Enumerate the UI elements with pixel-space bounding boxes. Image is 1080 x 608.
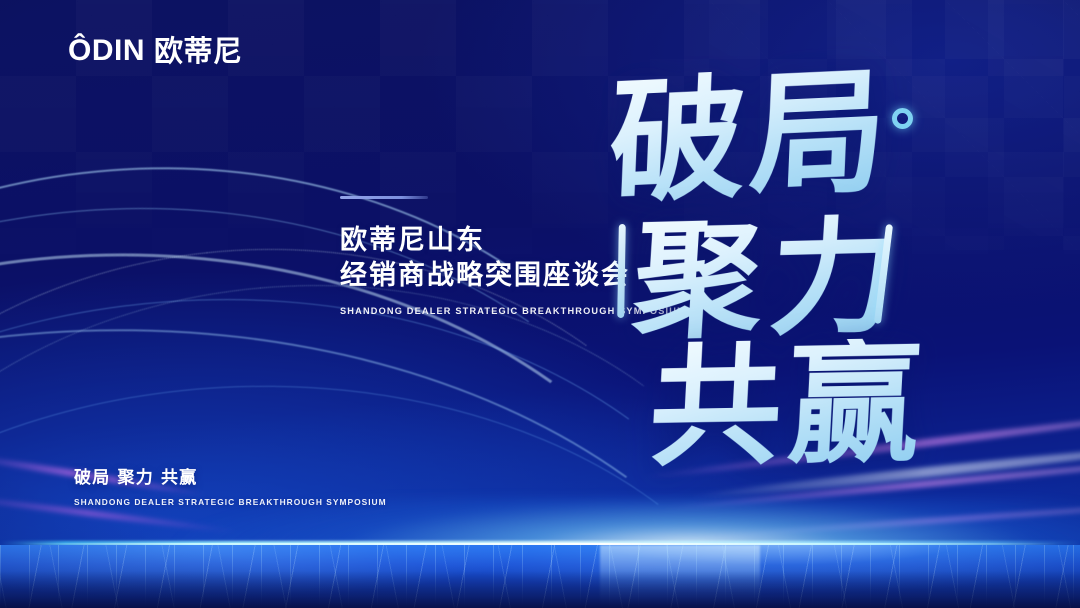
event-backdrop-poster: ÔDIN 欧蒂尼 欧蒂尼山东 经销商战略突围座谈会 SHANDONG DEALE… — [0, 0, 1080, 608]
vignette-overlay — [0, 0, 1080, 608]
